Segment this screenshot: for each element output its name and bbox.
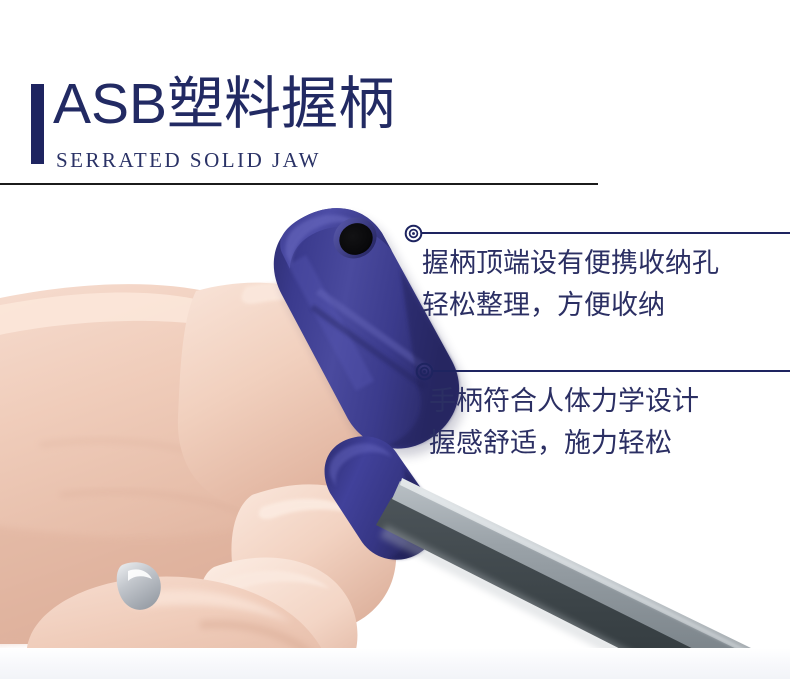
callout-line-1: 手柄符合人体力学设计 [429, 380, 699, 422]
callout-text: 握柄顶端设有便携收纳孔 轻松整理，方便收纳 [422, 242, 719, 326]
product-detail-page: ASB塑料握柄 SERRATED SOLID JAW [0, 0, 790, 679]
header-divider [0, 183, 598, 185]
bottom-fade [0, 648, 790, 679]
callout-leader-line [432, 370, 790, 372]
header-block: ASB塑料握柄 SERRATED SOLID JAW [0, 0, 790, 195]
callout-line-1: 握柄顶端设有便携收纳孔 [422, 242, 719, 284]
page-subtitle: SERRATED SOLID JAW [56, 148, 321, 172]
page-title: ASB塑料握柄 [53, 70, 395, 138]
callout-line-2: 握感舒适，施力轻松 [429, 422, 699, 464]
callout-leader-line [421, 232, 790, 234]
callout-text: 手柄符合人体力学设计 握感舒适，施力轻松 [429, 380, 699, 464]
callout-line-2: 轻松整理，方便收纳 [422, 284, 719, 326]
title-accent-bar [31, 84, 44, 164]
